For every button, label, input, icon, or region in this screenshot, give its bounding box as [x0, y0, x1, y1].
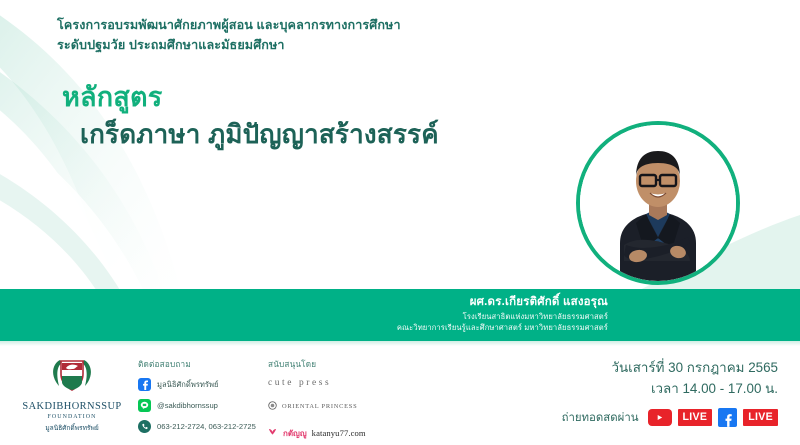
speaker-affiliation-1: โรงเรียนสาธิตแห่งมหาวิทยาลัยธรรมศาสตร์	[397, 311, 608, 322]
contact-heading: ติดต่อสอบถาม	[138, 358, 263, 371]
speaker-photo	[576, 121, 740, 285]
sponsors-heading: สนับสนุนโดย	[268, 358, 418, 371]
poster-root: โครงการอบรมพัฒนาศักยภาพผู้สอน และบุคลากร…	[0, 0, 800, 445]
header-line-1: โครงการอบรมพัฒนาศักยภาพผู้สอน และบุคลากร…	[57, 16, 487, 36]
title-main: หลักสูตร	[62, 81, 439, 114]
page-title: หลักสูตร เกร็ดภาษา ภูมิปัญญาสร้างสรรค์	[62, 81, 439, 152]
contact-item-line[interactable]: @sakdibhornssup	[138, 399, 263, 412]
facebook-icon-badge[interactable]	[718, 408, 737, 427]
oriental-princess-icon	[268, 397, 277, 415]
contact-facebook-text: มูลนิธิศักดิ์พรทรัพย์	[157, 379, 218, 391]
sponsor-katanyu-label: katanyu77.com	[312, 428, 366, 438]
speaker-credentials: ผศ.ดร.เกียรติศักดิ์ แสงอรุณ โรงเรียนสาธิ…	[397, 294, 608, 333]
foundation-name: SAKDIBHORNSSUP	[17, 401, 127, 412]
broadcast-label: ถ่ายทอดสดผ่าน	[562, 409, 639, 427]
header-text: โครงการอบรมพัฒนาศักยภาพผู้สอน และบุคลากร…	[57, 16, 487, 55]
foundation-name-thai: มูลนิธิศักดิ์พรทรัพย์	[17, 422, 127, 433]
contact-item-phone[interactable]: 063-212-2724, 063-212-2725	[138, 420, 263, 433]
sponsor-oriental-princess-label: ORIENTAL PRINCESS	[282, 403, 357, 410]
facebook-live-badge[interactable]: LIVE	[743, 409, 778, 426]
sponsor-katanyu-thai: กตัญญู	[283, 427, 307, 440]
sponsors-section: สนับสนุนโดย cute press ORIENTAL PRINCESS…	[268, 358, 418, 445]
title-subtitle: เกร็ดภาษา ภูมิปัญญาสร้างสรรค์	[80, 118, 439, 152]
contact-line-text: @sakdibhornssup	[157, 401, 218, 410]
schedule-date: วันเสาร์ที่ 30 กรกฎาคม 2565	[611, 358, 778, 379]
speaker-affiliation-2: คณะวิทยาการเรียนรู้และศึกษาศาสตร์ มหาวิท…	[397, 322, 608, 333]
sponsor-item-katanyu[interactable]: กตัญญู katanyu77.com	[268, 424, 418, 442]
youtube-live-badge[interactable]: LIVE	[678, 409, 713, 426]
foundation-subtitle: FOUNDATION	[17, 414, 127, 420]
sponsor-item-oriental-princess[interactable]: ORIENTAL PRINCESS	[268, 397, 418, 415]
foundation-logo: SAKDIBHORNSSUP FOUNDATION มูลนิธิศักดิ์พ…	[17, 354, 127, 433]
broadcast-section: ถ่ายทอดสดผ่าน LIVE LIVE	[562, 408, 778, 427]
speaker-name: ผศ.ดร.เกียรติศักดิ์ แสงอรุณ	[397, 294, 608, 311]
foundation-crest-icon	[46, 354, 98, 394]
footer: SAKDIBHORNSSUP FOUNDATION มูลนิธิศักดิ์พ…	[0, 346, 800, 445]
contact-section: ติดต่อสอบถาม มูลนิธิศักดิ์พรทรัพย์ @sakd…	[138, 358, 263, 441]
youtube-icon[interactable]	[648, 409, 672, 426]
line-icon	[138, 399, 151, 412]
schedule-section: วันเสาร์ที่ 30 กรกฎาคม 2565 เวลา 14.00 -…	[611, 358, 778, 400]
phone-icon	[138, 420, 151, 433]
sponsor-item-cute-press[interactable]: cute press	[268, 378, 418, 388]
contact-item-facebook[interactable]: มูลนิธิศักดิ์พรทรัพย์	[138, 378, 263, 391]
schedule-time: เวลา 14.00 - 17.00 น.	[611, 379, 778, 400]
contact-phone-text: 063-212-2724, 063-212-2725	[157, 422, 256, 431]
sponsor-cute-press-label: cute press	[268, 378, 331, 388]
katanyu-leaf-icon	[268, 424, 278, 442]
facebook-icon	[138, 378, 151, 391]
header-line-2: ระดับปฐมวัย ประถมศึกษาและมัธยมศึกษา	[57, 36, 487, 56]
